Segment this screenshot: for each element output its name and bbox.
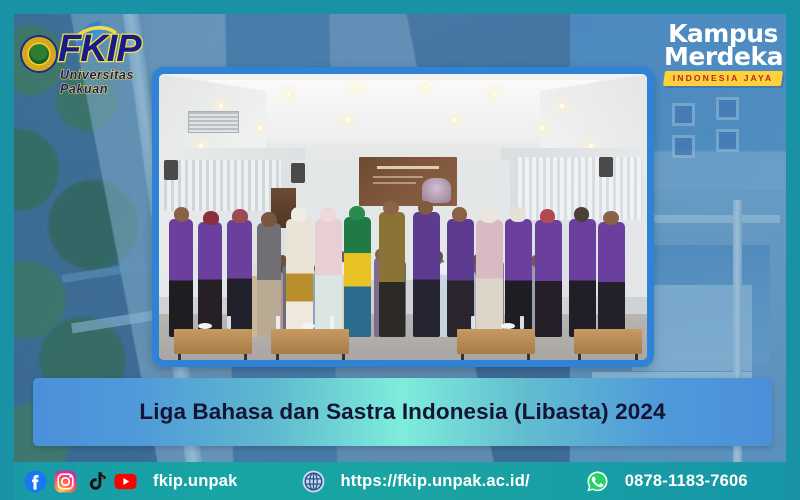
fkip-logo: FKIP Universitas Pakuan (18, 26, 168, 86)
water-bottle (227, 316, 231, 329)
person-front-blazer (535, 220, 562, 337)
person-hijab (320, 207, 336, 221)
hall-speaker (599, 157, 613, 177)
website-group: https://fkip.unpak.ac.id/ (302, 470, 530, 493)
person-hijab (203, 211, 219, 225)
phone-number-text[interactable]: 0878-1183-7606 (625, 472, 748, 491)
person-front-speaker (379, 212, 406, 337)
frame-border-right (786, 0, 800, 500)
kampus-merdeka-line2: Merdeka (664, 45, 782, 68)
person-front (344, 217, 371, 337)
social-handle-group: fkip.unpak (24, 470, 238, 493)
person-front (286, 219, 313, 338)
frame-border-left (0, 0, 14, 500)
water-bottle (471, 316, 475, 329)
downlight (218, 103, 224, 109)
phone-group: 0878-1183-7606 (586, 470, 748, 493)
person-front-blazer (598, 222, 625, 337)
hall-table (574, 329, 642, 355)
person-hijab (510, 207, 526, 221)
university-seal-core (29, 44, 49, 64)
person-hijab (540, 209, 556, 223)
kampus-merdeka-ribbon-text: INDONESIA JAYA (664, 73, 782, 83)
kampus-merdeka-ribbon: INDONESIA JAYA (663, 71, 783, 86)
person-head (174, 207, 190, 221)
water-bottle (520, 316, 524, 329)
person-front (476, 220, 503, 337)
instagram-icon[interactable] (54, 470, 77, 493)
event-title-bar: Liga Bahasa dan Sastra Indonesia (Libast… (33, 378, 772, 446)
page-title: Liga Bahasa dan Sastra Indonesia (Libast… (139, 399, 665, 425)
hall-table (457, 329, 535, 355)
downlight (452, 117, 458, 123)
hall-table (174, 329, 252, 355)
facebook-icon[interactable] (24, 470, 47, 493)
person-hijab (232, 209, 248, 223)
downlight (491, 91, 497, 97)
whatsapp-icon[interactable] (586, 470, 609, 493)
website-url-text[interactable]: https://fkip.unpak.ac.id/ (341, 472, 530, 491)
person-front-blazer (447, 219, 474, 338)
person-front-blazer (569, 219, 596, 338)
frame-border-top (0, 0, 800, 14)
table-plate (301, 323, 315, 329)
person-front-blazer (505, 219, 532, 338)
youtube-icon[interactable] (114, 470, 137, 493)
contact-footer: fkip.unpak https://fkip.unpak.ac.id/ 087… (0, 462, 800, 500)
event-group-photo (152, 67, 654, 367)
person-front-blazer (169, 219, 193, 338)
globe-icon[interactable] (302, 470, 325, 493)
person-front-blazer (413, 212, 440, 337)
hall-air-vent (188, 111, 239, 133)
water-bottle (276, 316, 280, 329)
hall-table (271, 329, 349, 355)
poster-canvas: FKIP Universitas Pakuan Kampus Merdeka I… (0, 0, 800, 500)
person-head (603, 211, 619, 225)
person-head (261, 212, 277, 226)
event-group-photo-image (159, 74, 647, 360)
person-hijab (291, 207, 307, 221)
kampus-merdeka-logo: Kampus Merdeka INDONESIA JAYA (664, 22, 782, 86)
crowd-of-participants (159, 177, 647, 337)
fkip-subtitle: Universitas Pakuan (60, 68, 168, 96)
social-handle-text: fkip.unpak (153, 472, 238, 491)
tiktok-icon[interactable] (84, 470, 107, 493)
person-head (574, 207, 590, 221)
banner-title-block (377, 166, 439, 169)
person-hijab (481, 209, 497, 223)
person-front-blazer (198, 222, 222, 337)
fkip-wordmark: FKIP (58, 28, 141, 71)
person-head (452, 207, 468, 221)
person-front (315, 219, 342, 338)
downlight (423, 85, 429, 91)
table-plate (501, 323, 515, 329)
university-seal-icon (22, 37, 56, 71)
water-bottle (330, 316, 334, 329)
table-plate (198, 323, 212, 329)
person-hijab (349, 206, 365, 220)
downlight (286, 91, 292, 97)
downlight (559, 103, 565, 109)
